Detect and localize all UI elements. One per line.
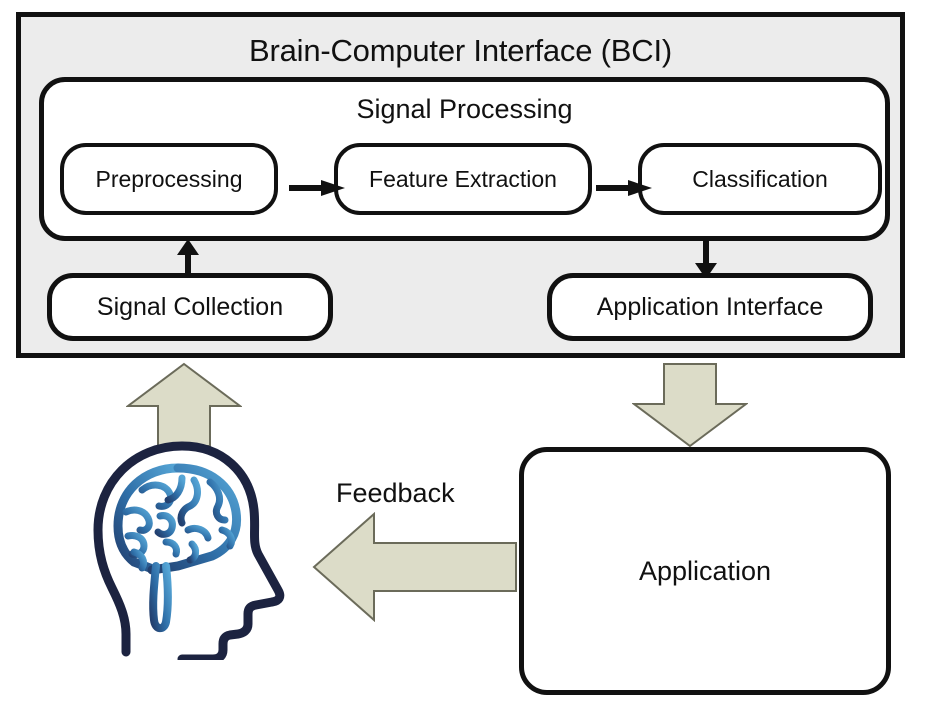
block-arrow-down-icon xyxy=(632,362,748,448)
stage-feature-extraction-label: Feature Extraction xyxy=(369,166,557,193)
arrow-right-icon-feature-to-classification xyxy=(594,180,652,196)
stage-preprocessing-label: Preprocessing xyxy=(95,166,242,193)
box-application-interface[interactable]: Application Interface xyxy=(547,273,873,341)
diagram-canvas: Brain-Computer Interface (BCI) Signal Pr… xyxy=(0,0,927,703)
signal-processing-title: Signal Processing xyxy=(44,94,885,125)
signal-processing-panel: Signal Processing Preprocessing Feature … xyxy=(39,77,890,241)
stage-preprocessing[interactable]: Preprocessing xyxy=(60,143,278,215)
box-signal-collection[interactable]: Signal Collection xyxy=(47,273,333,341)
box-signal-collection-label: Signal Collection xyxy=(97,293,283,322)
stage-classification[interactable]: Classification xyxy=(638,143,882,215)
block-arrow-up-icon xyxy=(126,362,242,448)
block-arrow-left-icon-feedback xyxy=(312,512,518,622)
page-title: Brain-Computer Interface (BCI) xyxy=(21,33,900,69)
arrow-right-icon-preprocessing-to-feature xyxy=(287,180,345,196)
human-head-brain-icon xyxy=(82,438,297,660)
stage-classification-label: Classification xyxy=(692,166,828,193)
bci-container: Brain-Computer Interface (BCI) Signal Pr… xyxy=(16,12,905,358)
box-application-interface-label: Application Interface xyxy=(597,293,824,322)
box-application[interactable]: Application xyxy=(519,447,891,695)
stage-feature-extraction[interactable]: Feature Extraction xyxy=(334,143,592,215)
box-application-label: Application xyxy=(639,556,771,587)
feedback-label: Feedback xyxy=(336,478,455,509)
